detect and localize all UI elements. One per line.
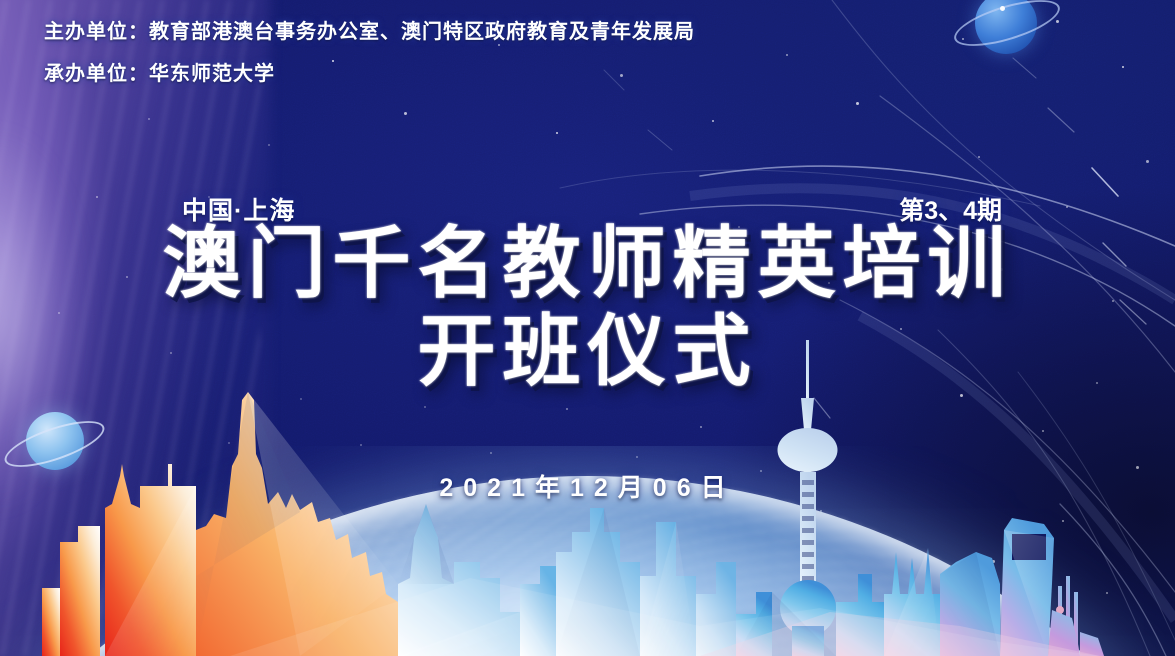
organizer-line-host: 主办单位：教育部港澳台事务办公室、澳门特区政府教育及青年发展局 xyxy=(44,22,695,42)
organizer-block: 主办单位：教育部港澳台事务办公室、澳门特区政府教育及青年发展局 承办单位：华东师… xyxy=(44,22,695,106)
organizer-line-operator: 承办单位：华东师范大学 xyxy=(44,64,695,84)
page-title-line-2: 开班仪式 xyxy=(0,312,1175,390)
poster-canvas: 主办单位：教育部港澳台事务办公室、澳门特区政府教育及青年发展局 承办单位：华东师… xyxy=(0,0,1175,656)
page-title-line-1: 澳门千名教师精英培训 xyxy=(0,224,1175,302)
event-date-label: 2021年12月06日 xyxy=(0,468,1175,504)
planet-highlight-star xyxy=(1000,6,1005,11)
